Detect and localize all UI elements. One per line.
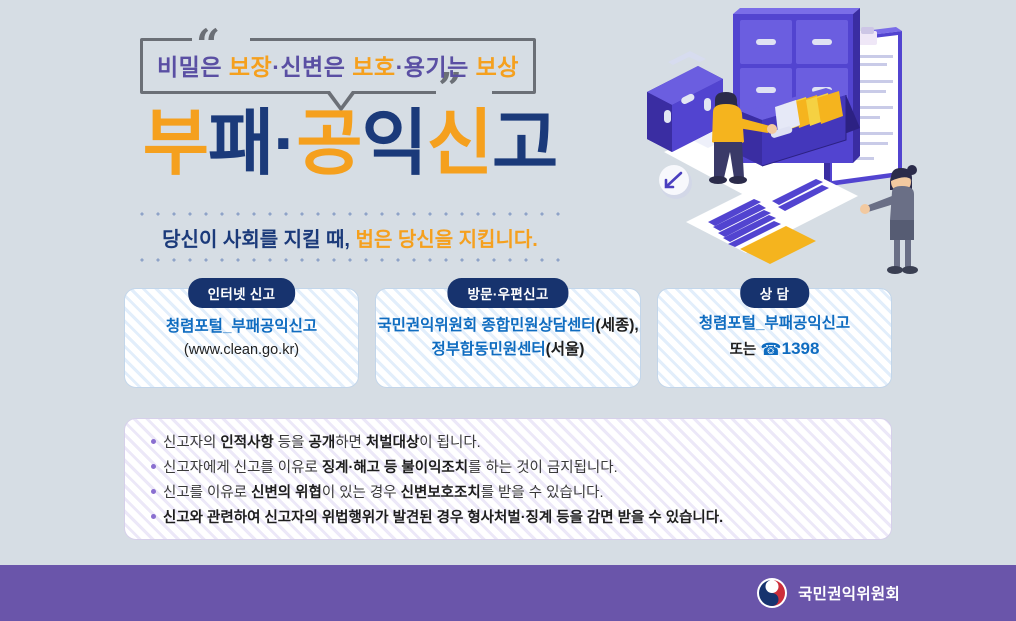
consult-or-label: 또는 [730,342,757,358]
bullet-dot-icon [151,439,156,444]
infographic-root: “ ” 비밀은 보장·신변은 보호·용기는 보상 부패·공익신고 당신이 사회를… [0,0,1016,621]
notice-text-1: 신고자의 인적사항 등을 공개하면 처벌대상이 됩니다. [163,432,481,454]
dotted-rule-bottom [138,258,562,262]
tagline-seg-3: 신변은 [280,54,352,80]
footer-organization-name: 국민권익위원회 [798,582,900,604]
phone-icon: ☎ [760,340,781,359]
consult-phone-number[interactable]: 1398 [782,339,820,358]
tagline-seg-7: 보상 [476,54,519,80]
notice-text-4: 신고와 관련하여 신고자의 위법행위가 발견된 경우 형사처벌·징계 등을 감면… [163,507,723,529]
card-visit-mail-report[interactable]: 방문·우편신고 국민권익위원회 종합민원상담센터(세종), 정부합동민원센터(서… [375,288,641,388]
info-cards: 인터넷 신고 청렴포털_부패공익신고 (www.clean.go.kr) 방문·… [124,288,892,394]
subtitle-orange: 법은 당신을 지킵니다. [356,229,538,251]
bullet-dot-icon [151,464,156,469]
notice-text-3: 신고를 이유로 신변의 위협이 있는 경우 신변보호조치를 받을 수 있습니다. [163,482,604,504]
card-badge-visit-mail: 방문·우편신고 [447,278,568,308]
card-visit-line-1-main: 국민권익위원회 종합민원상담센터 [377,317,595,334]
card-visit-line-2-main: 정부합동민원센터 [432,341,546,358]
card-internet-line-1: 청렴포털_부패공익신고 [166,315,317,339]
filing-cabinet [733,8,860,166]
subtitle-text: 당신이 사회를 지킬 때, 법은 당신을 지킵니다. [120,216,580,258]
notice-item-1: 신고자의 인적사항 등을 공개하면 처벌대상이 됩니다. [151,432,891,454]
card-visit-line-1: 국민권익위원회 종합민원상담센터(세종), [377,314,638,338]
tagline-seg-0: 비밀은 [157,54,229,80]
notice-item-3: 신고를 이유로 신변의 위협이 있는 경우 신변보호조치를 받을 수 있습니다. [151,482,891,504]
card-internet-line-2: (www.clean.go.kr) [184,339,299,361]
notice-text-2: 신고자에게 신고를 이유로 징계·해고 등 불이익조치를 하는 것이 금지됩니다… [163,457,618,479]
title-seg-4: 신 [427,104,492,184]
card-visit-line-1-suffix: (세종), [596,317,639,334]
down-left-arrow-badge [659,165,692,199]
card-internet-report[interactable]: 인터넷 신고 청렴포털_부패공익신고 (www.clean.go.kr) [124,288,359,388]
card-visit-line-2: 정부합동민원센터(서울) [432,338,585,362]
card-consult-line-2: 또는 ☎1398 [730,336,820,363]
title-seg-5: 고 [492,104,557,184]
notice-item-2: 신고자에게 신고를 이유로 징계·해고 등 불이익조치를 하는 것이 금지됩니다… [151,457,891,479]
tagline-text: 비밀은 보장·신변은 보호·용기는 보상 [140,48,536,82]
isometric-illustration [620,0,1016,280]
notice-item-4: 신고와 관련하여 신고자의 위법행위가 발견된 경우 형사처벌·징계 등을 감면… [151,507,891,529]
woman-figure [860,165,918,274]
subtitle-block: 당신이 사회를 지킬 때, 법은 당신을 지킵니다. [120,212,580,262]
page-title: 부패·공익신고 [100,108,600,180]
title-seg-2: 공 [296,104,361,184]
card-badge-internet: 인터넷 신고 [188,278,296,308]
tagline-seg-1: 보장 [229,54,272,80]
card-badge-consultation: 상 담 [740,278,810,308]
title-seg-1: 패· [208,104,296,184]
tagline-seg-6: 용기는 [404,54,476,80]
card-visit-line-2-suffix: (서울) [546,341,585,358]
title-seg-3: 익 [361,104,426,184]
title-seg-0: 부 [143,104,208,184]
card-consultation[interactable]: 상 담 청렴포털_부패공익신고 또는 ☎1398 [657,288,892,388]
footer-brand: 국민권익위원회 [757,565,900,621]
footer-bar: 국민권익위원회 [0,565,1016,621]
subtitle-navy: 당신이 사회를 지킬 때, [162,229,350,251]
tagline-seg-4: 보호 [352,54,395,80]
bullet-dot-icon [151,514,156,519]
notice-panel: 신고자의 인적사항 등을 공개하면 처벌대상이 됩니다. 신고자에게 신고를 이… [124,418,892,540]
taegeuk-logo-icon [757,578,787,608]
card-consult-line-1: 청렴포털_부패공익신고 [699,312,850,336]
tagline-quote-block: “ ” 비밀은 보장·신변은 보호·용기는 보상 [140,24,540,110]
tagline-seg-5: · [396,54,404,80]
bullet-dot-icon [151,489,156,494]
